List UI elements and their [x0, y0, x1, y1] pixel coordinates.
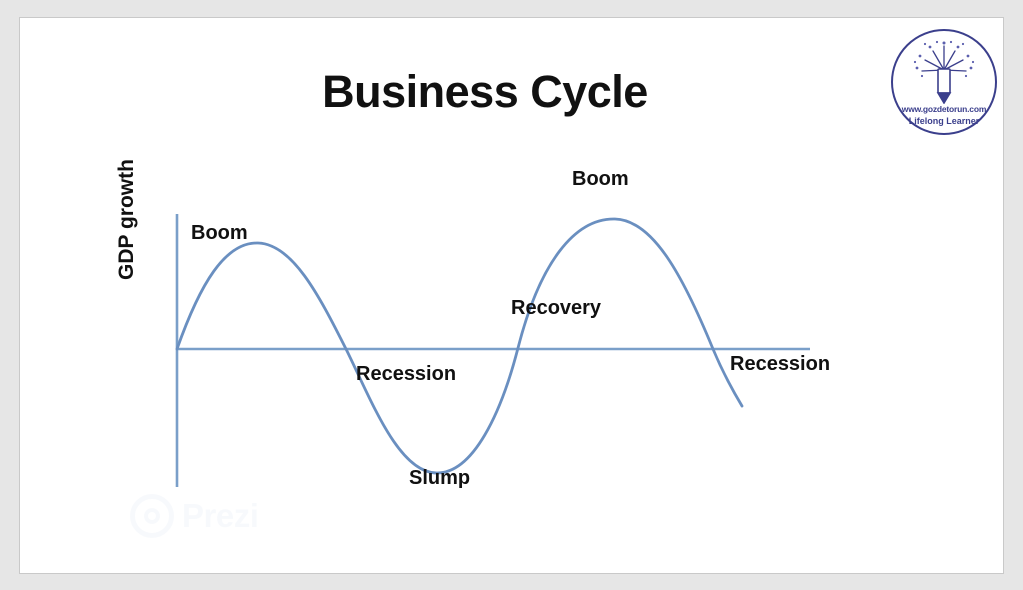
business-cycle-curve	[177, 219, 742, 473]
y-axis-label: GDP growth	[115, 159, 139, 280]
slide-frame: Business Cycle	[19, 17, 1004, 574]
annotation-slump: Slump	[409, 467, 470, 490]
annotation-boom-1: Boom	[191, 222, 248, 245]
prezi-wordmark: Prezi	[182, 497, 258, 535]
prezi-logo-icon	[130, 494, 174, 538]
annotation-recovery: Recovery	[511, 297, 601, 320]
annotation-boom-2: Boom	[572, 168, 629, 191]
prezi-watermark: Prezi	[110, 488, 310, 546]
annotation-recession-1: Recession	[356, 363, 456, 386]
annotation-recession-2: Recession	[730, 353, 830, 376]
